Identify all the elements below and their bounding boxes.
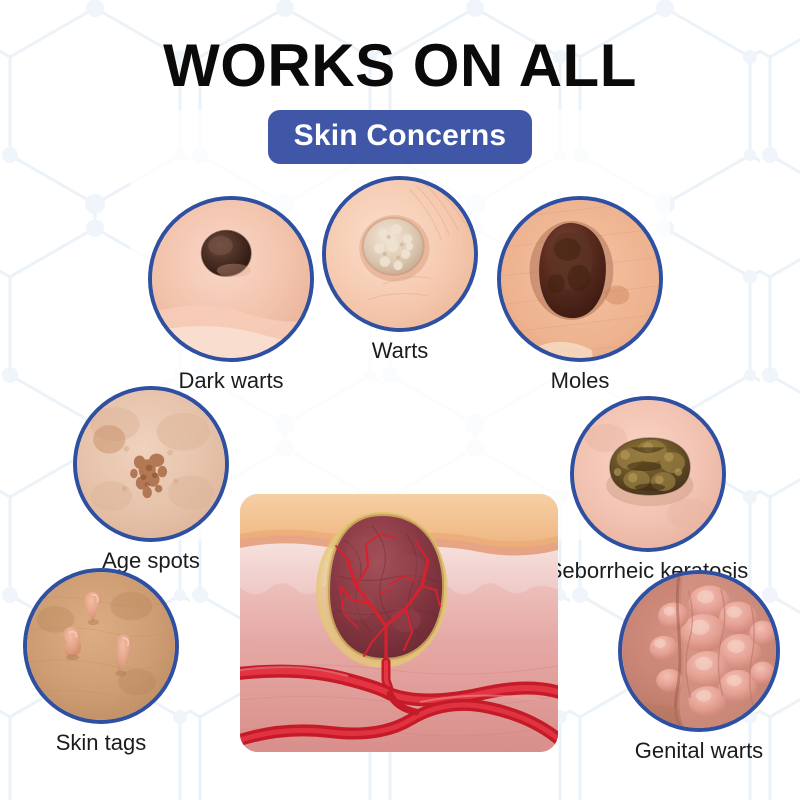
header: WORKS ON ALL Skin Concerns [0, 0, 800, 164]
genital-warts-image [618, 570, 780, 732]
concern-skin-tags[interactable]: Skin tags [23, 568, 179, 755]
moles-illustration [501, 200, 659, 358]
skin-cross-section-svg [240, 494, 558, 752]
warts-image [322, 176, 478, 332]
concern-genital-warts[interactable]: Genital warts [618, 570, 780, 763]
age-spots-image [73, 386, 229, 542]
concern-warts[interactable]: Warts [322, 176, 478, 363]
dark-warts-illustration [152, 200, 310, 358]
skin-tags-illustration [27, 572, 175, 720]
seborrheic-keratosis-image [570, 396, 726, 552]
seborrheic-keratosis-illustration [574, 400, 722, 548]
concern-age-spots[interactable]: Age spots [73, 386, 229, 573]
moles-image [497, 196, 663, 362]
concern-moles[interactable]: Moles [497, 196, 663, 393]
age-spots-illustration [77, 390, 225, 538]
concern-dark-warts[interactable]: Dark warts [148, 196, 314, 393]
skin-cross-section-illustration [240, 494, 558, 752]
moles-label: Moles [551, 369, 610, 393]
subtitle-badge: Skin Concerns [268, 110, 533, 164]
genital-warts-label: Genital warts [635, 739, 763, 763]
dark-warts-image [148, 196, 314, 362]
genital-warts-illustration [622, 574, 776, 728]
warts-illustration [326, 180, 474, 328]
concern-seborrheic-keratosis[interactable]: Seborrheic keratosis [570, 396, 726, 583]
skin-tags-label: Skin tags [56, 731, 147, 755]
page-title: WORKS ON ALL [0, 36, 800, 96]
warts-label: Warts [372, 339, 429, 363]
skin-tags-image [23, 568, 179, 724]
